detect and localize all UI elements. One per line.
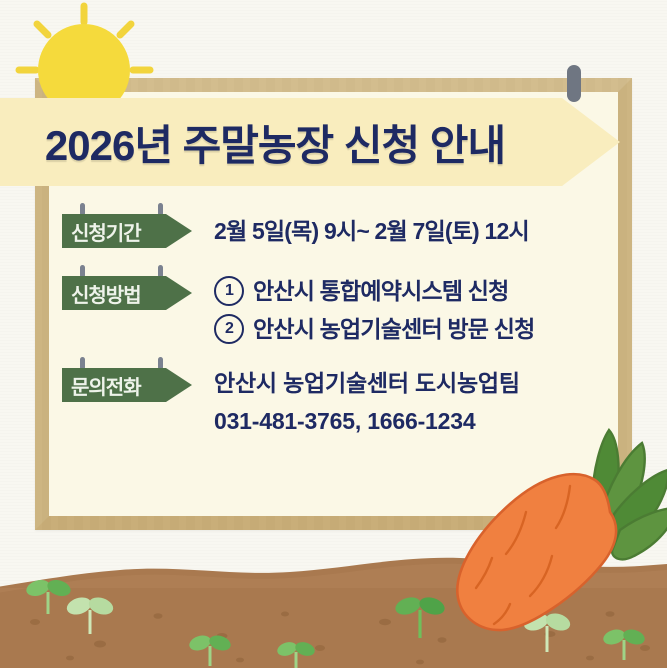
row-body-period: 2월 5일(목) 9시~ 2월 7일(토) 12시: [194, 210, 622, 250]
tag-period: 신청기간: [62, 214, 192, 248]
poster-canvas: 2026년 주말농장 신청 안내 신청기간 2월 5일(목) 9시~ 2월 7일…: [0, 0, 667, 668]
sprout-icon: [187, 633, 232, 666]
row-line: 2 안산시 농업기술센터 방문 신청: [214, 310, 622, 348]
tag-wrap-method: 신청방법: [62, 276, 194, 310]
row-line-text: 안산시 농업기술센터 방문 신청: [253, 310, 534, 348]
info-row-method: 신청방법 1 안산시 통합예약시스템 신청 2 안산시 농업기술센터 방문 신청: [62, 272, 622, 348]
tag-wrap-phone: 문의전화: [62, 368, 194, 402]
info-row-period: 신청기간 2월 5일(목) 9시~ 2월 7일(토) 12시: [62, 210, 622, 250]
title-banner: 2026년 주말농장 신청 안내: [0, 98, 620, 186]
page-title: 2026년 주말농장 신청 안내: [0, 98, 550, 186]
carrot-icon: [452, 408, 667, 643]
nail-icon: [567, 65, 581, 102]
sprout-icon: [275, 640, 316, 668]
tag-phone: 문의전화: [62, 368, 192, 402]
row-body-method: 1 안산시 통합예약시스템 신청 2 안산시 농업기술센터 방문 신청: [194, 272, 622, 348]
tag-method: 신청방법: [62, 276, 192, 310]
tag-label-method: 신청방법: [71, 279, 141, 308]
sprout-icon: [24, 577, 72, 614]
sprout-icon: [393, 594, 447, 638]
row-line-text: 안산시 통합예약시스템 신청: [253, 272, 509, 310]
circled-number-2: 2: [214, 314, 244, 344]
tag-label-period: 신청기간: [71, 217, 141, 246]
row-line: 안산시 농업기술센터 도시농업팀: [214, 364, 622, 402]
row-line: 2월 5일(목) 9시~ 2월 7일(토) 12시: [214, 212, 622, 250]
sprout-icon: [65, 595, 116, 634]
tag-label-phone: 문의전화: [71, 371, 141, 400]
tag-wrap-period: 신청기간: [62, 214, 194, 248]
circled-number-1: 1: [214, 276, 244, 306]
row-line: 1 안산시 통합예약시스템 신청: [214, 272, 622, 310]
